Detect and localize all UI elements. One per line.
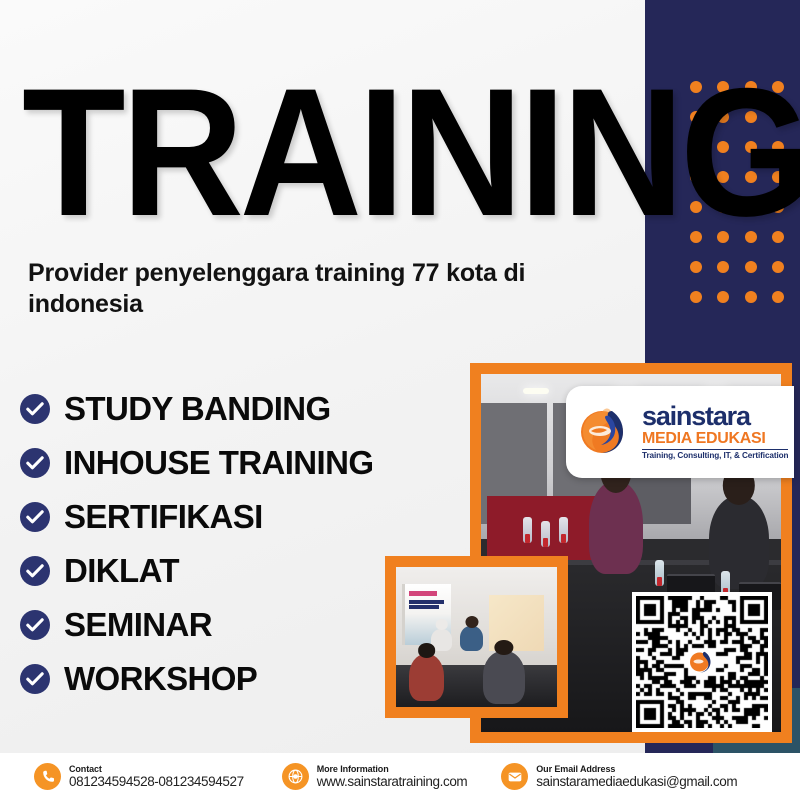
check-circle-icon [20,394,50,424]
photo-content [396,567,557,707]
logo-tagline: Training, Consulting, IT, & Certificatio… [642,449,788,460]
decor-dot [690,261,702,273]
decor-dot [772,261,784,273]
decor-dot [745,261,757,273]
logo-text-block: sainstara MEDIA EDUKASI Training, Consul… [642,404,788,460]
check-circle-icon [20,448,50,478]
service-item-label: INHOUSE TRAINING [64,444,373,482]
page-title: TRAINING [22,68,679,238]
footer-website-value: www.sainstaratraining.com [317,774,468,789]
sainstara-flame-icon [576,402,636,462]
check-circle-icon [20,664,50,694]
footer-contact[interactable]: Contact 081234594528-081234594527 [34,763,244,790]
logo-subtitle: MEDIA EDUKASI [642,430,788,448]
footer-contact-text: Contact 081234594528-081234594527 [69,764,244,789]
contact-footer: Contact 081234594528-081234594527 More I… [0,753,800,800]
footer-contact-label: Contact [69,764,244,774]
globe-icon [282,763,309,790]
qr-code[interactable] [632,592,772,732]
poster-canvas: TRAINING Provider penyelenggara training… [0,0,800,800]
service-item: SERTIFIKASI [20,490,460,544]
check-circle-icon [20,502,50,532]
footer-email-text: Our Email Address sainstaramediaedukasi@… [536,764,737,789]
service-item-label: SEMINAR [64,606,212,644]
seminar-photo [385,556,568,718]
qr-center-logo-icon [687,647,717,677]
decor-dot [717,261,729,273]
decor-dot [745,291,757,303]
phone-icon [34,763,61,790]
footer-email[interactable]: Our Email Address sainstaramediaedukasi@… [501,763,737,790]
check-circle-icon [20,556,50,586]
service-item-label: STUDY BANDING [64,390,331,428]
envelope-icon [501,763,528,790]
check-circle-icon [20,610,50,640]
sainstara-logo-badge: sainstara MEDIA EDUKASI Training, Consul… [566,386,794,478]
decor-dot [717,291,729,303]
decor-dot [772,291,784,303]
footer-website-label: More Information [317,764,468,774]
footer-email-value: sainstaramediaedukasi@gmail.com [536,774,737,789]
decor-dot [690,291,702,303]
service-item-label: WORKSHOP [64,660,257,698]
footer-email-label: Our Email Address [536,764,737,774]
footer-website[interactable]: More Information www.sainstaratraining.c… [282,763,468,790]
service-item-label: SERTIFIKASI [64,498,263,536]
service-item: STUDY BANDING [20,382,460,436]
footer-contact-value: 081234594528-081234594527 [69,774,244,789]
service-item-label: DIKLAT [64,552,179,590]
footer-website-text: More Information www.sainstaratraining.c… [317,764,468,789]
logo-name: sainstara [642,404,788,430]
service-item: INHOUSE TRAINING [20,436,460,490]
page-subtitle: Provider penyelenggara training 77 kota … [28,258,628,319]
